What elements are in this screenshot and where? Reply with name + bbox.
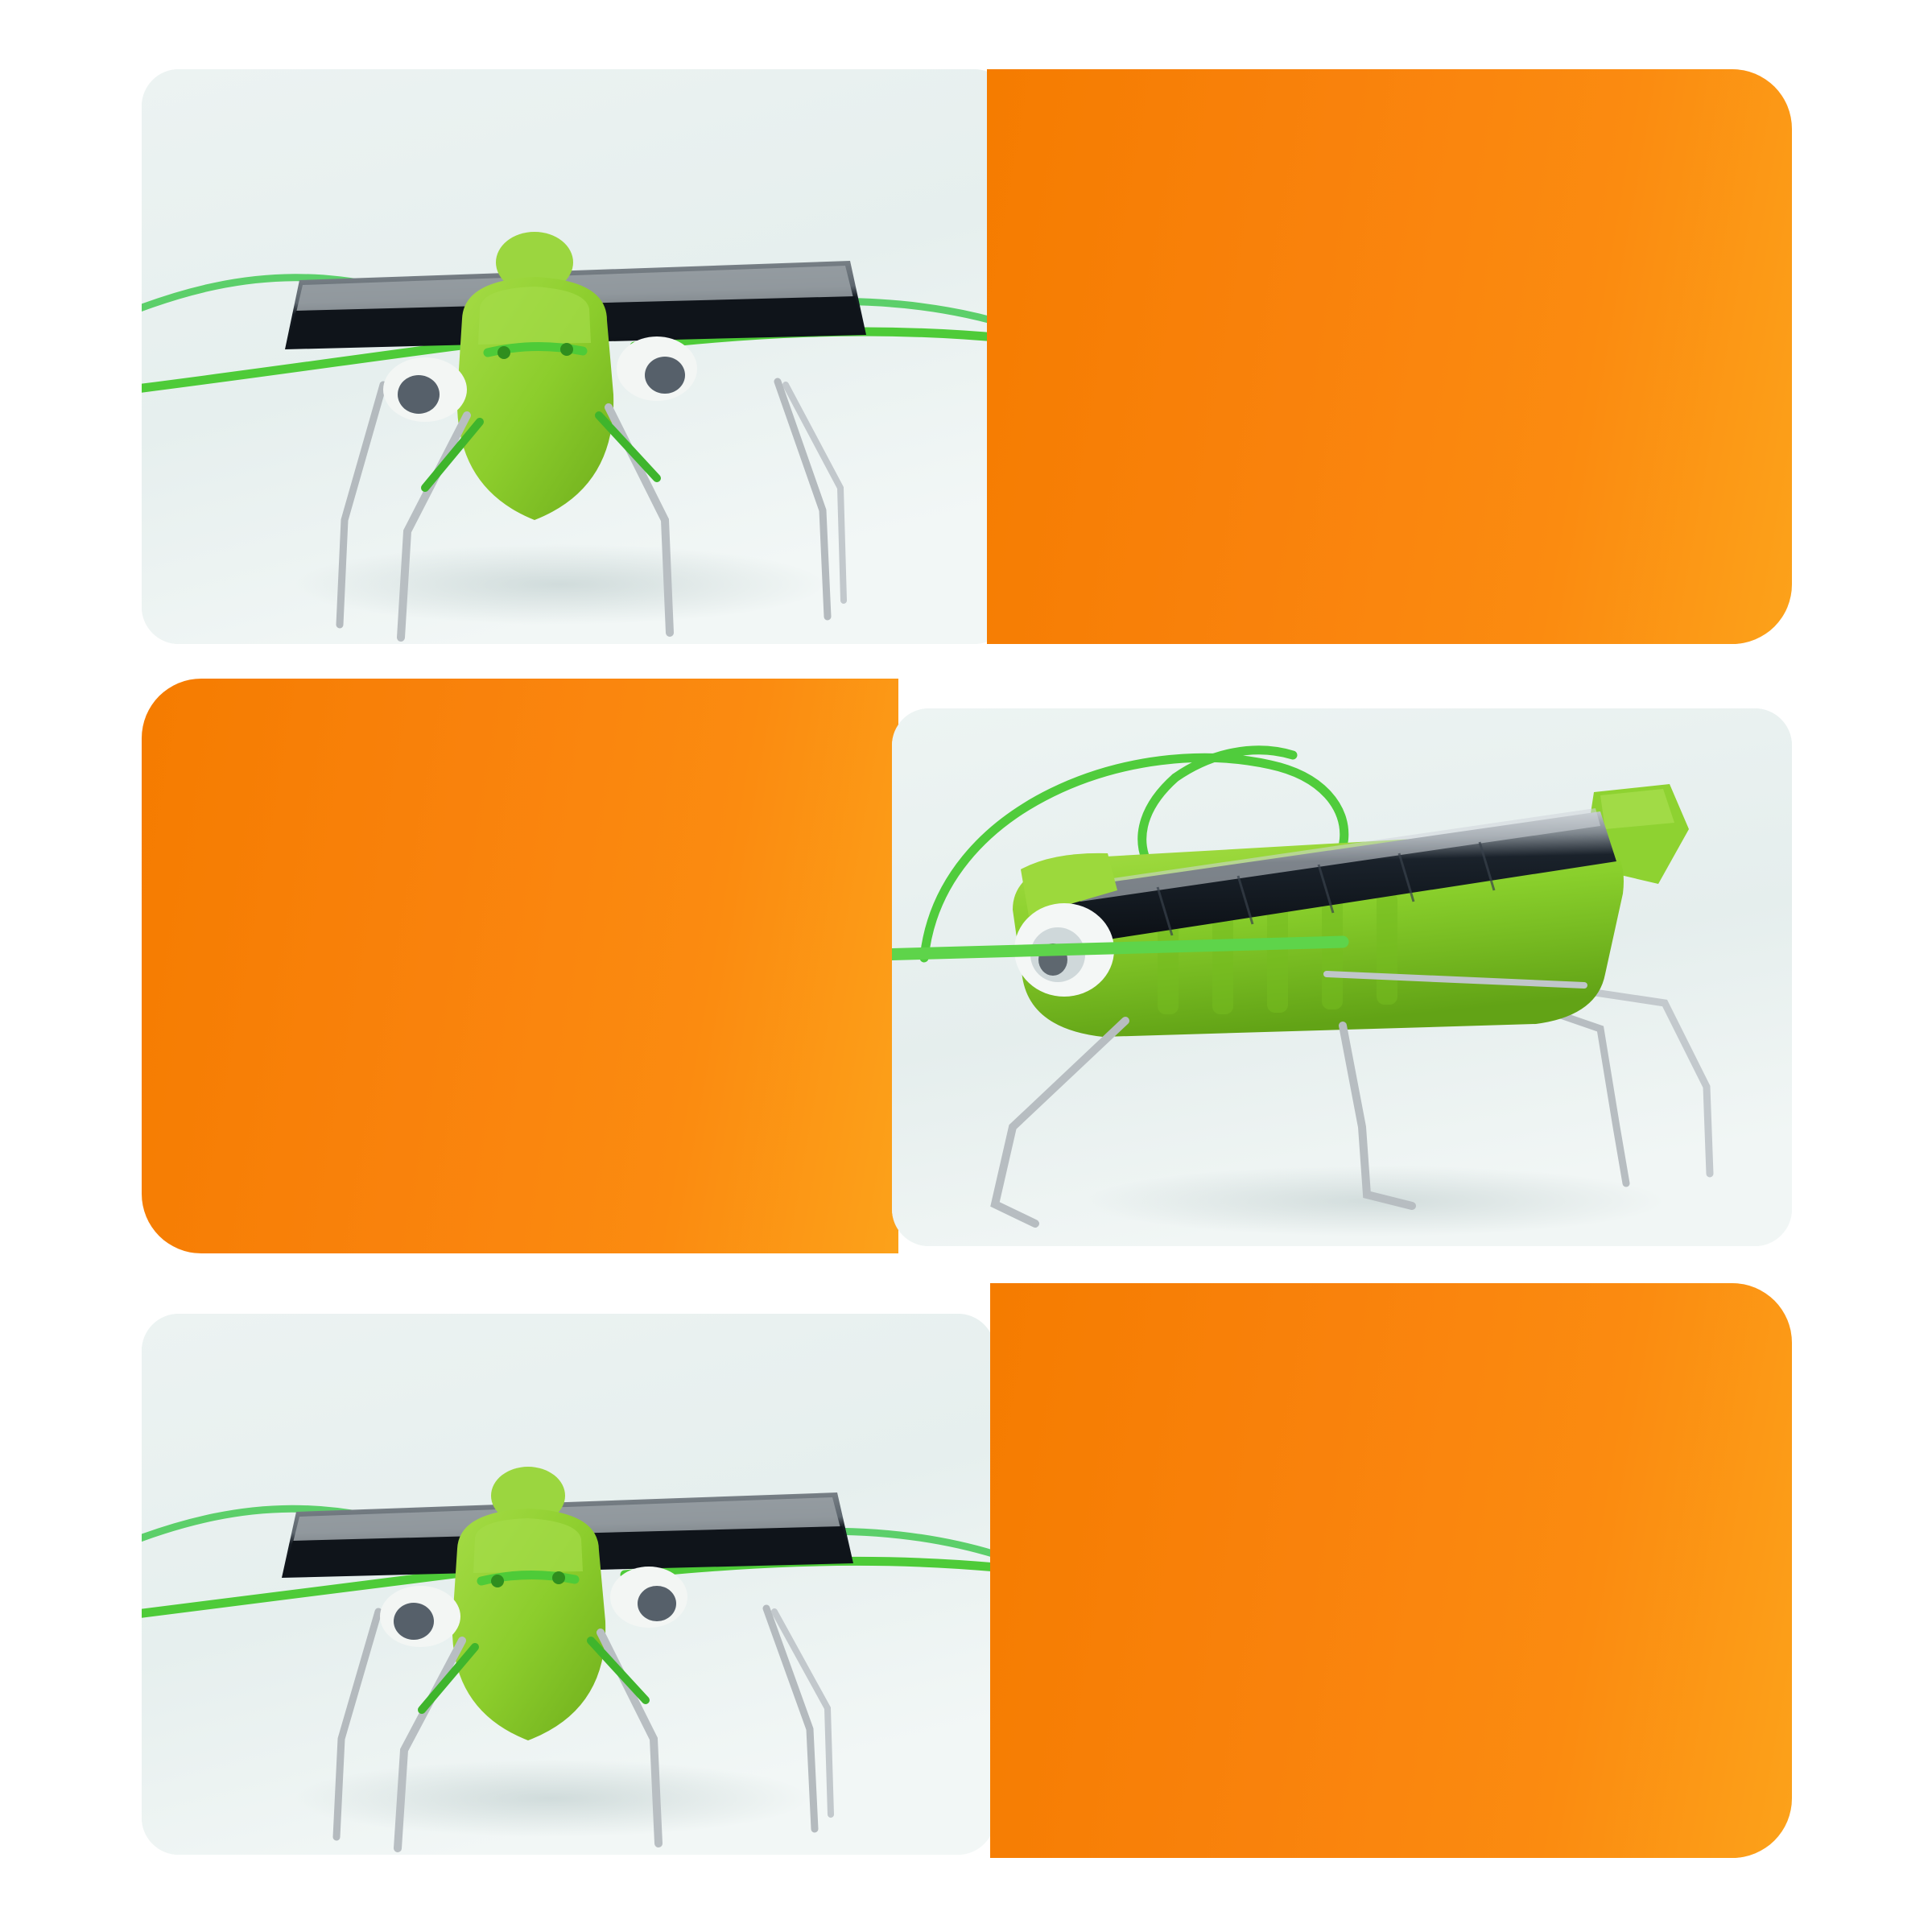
infographic-page: Simulation head Q version of the simulat… (0, 0, 1932, 1932)
feature-text-card-3: Solar panel Comes with a solar enclosure… (990, 1283, 1792, 1858)
feature-panel-solar-panel: Solar panel Comes with a solar enclosure… (0, 0, 1932, 1932)
grasshopper-front-illustration-2 (142, 1314, 995, 1855)
product-photo-front-view-2 (142, 1314, 995, 1855)
